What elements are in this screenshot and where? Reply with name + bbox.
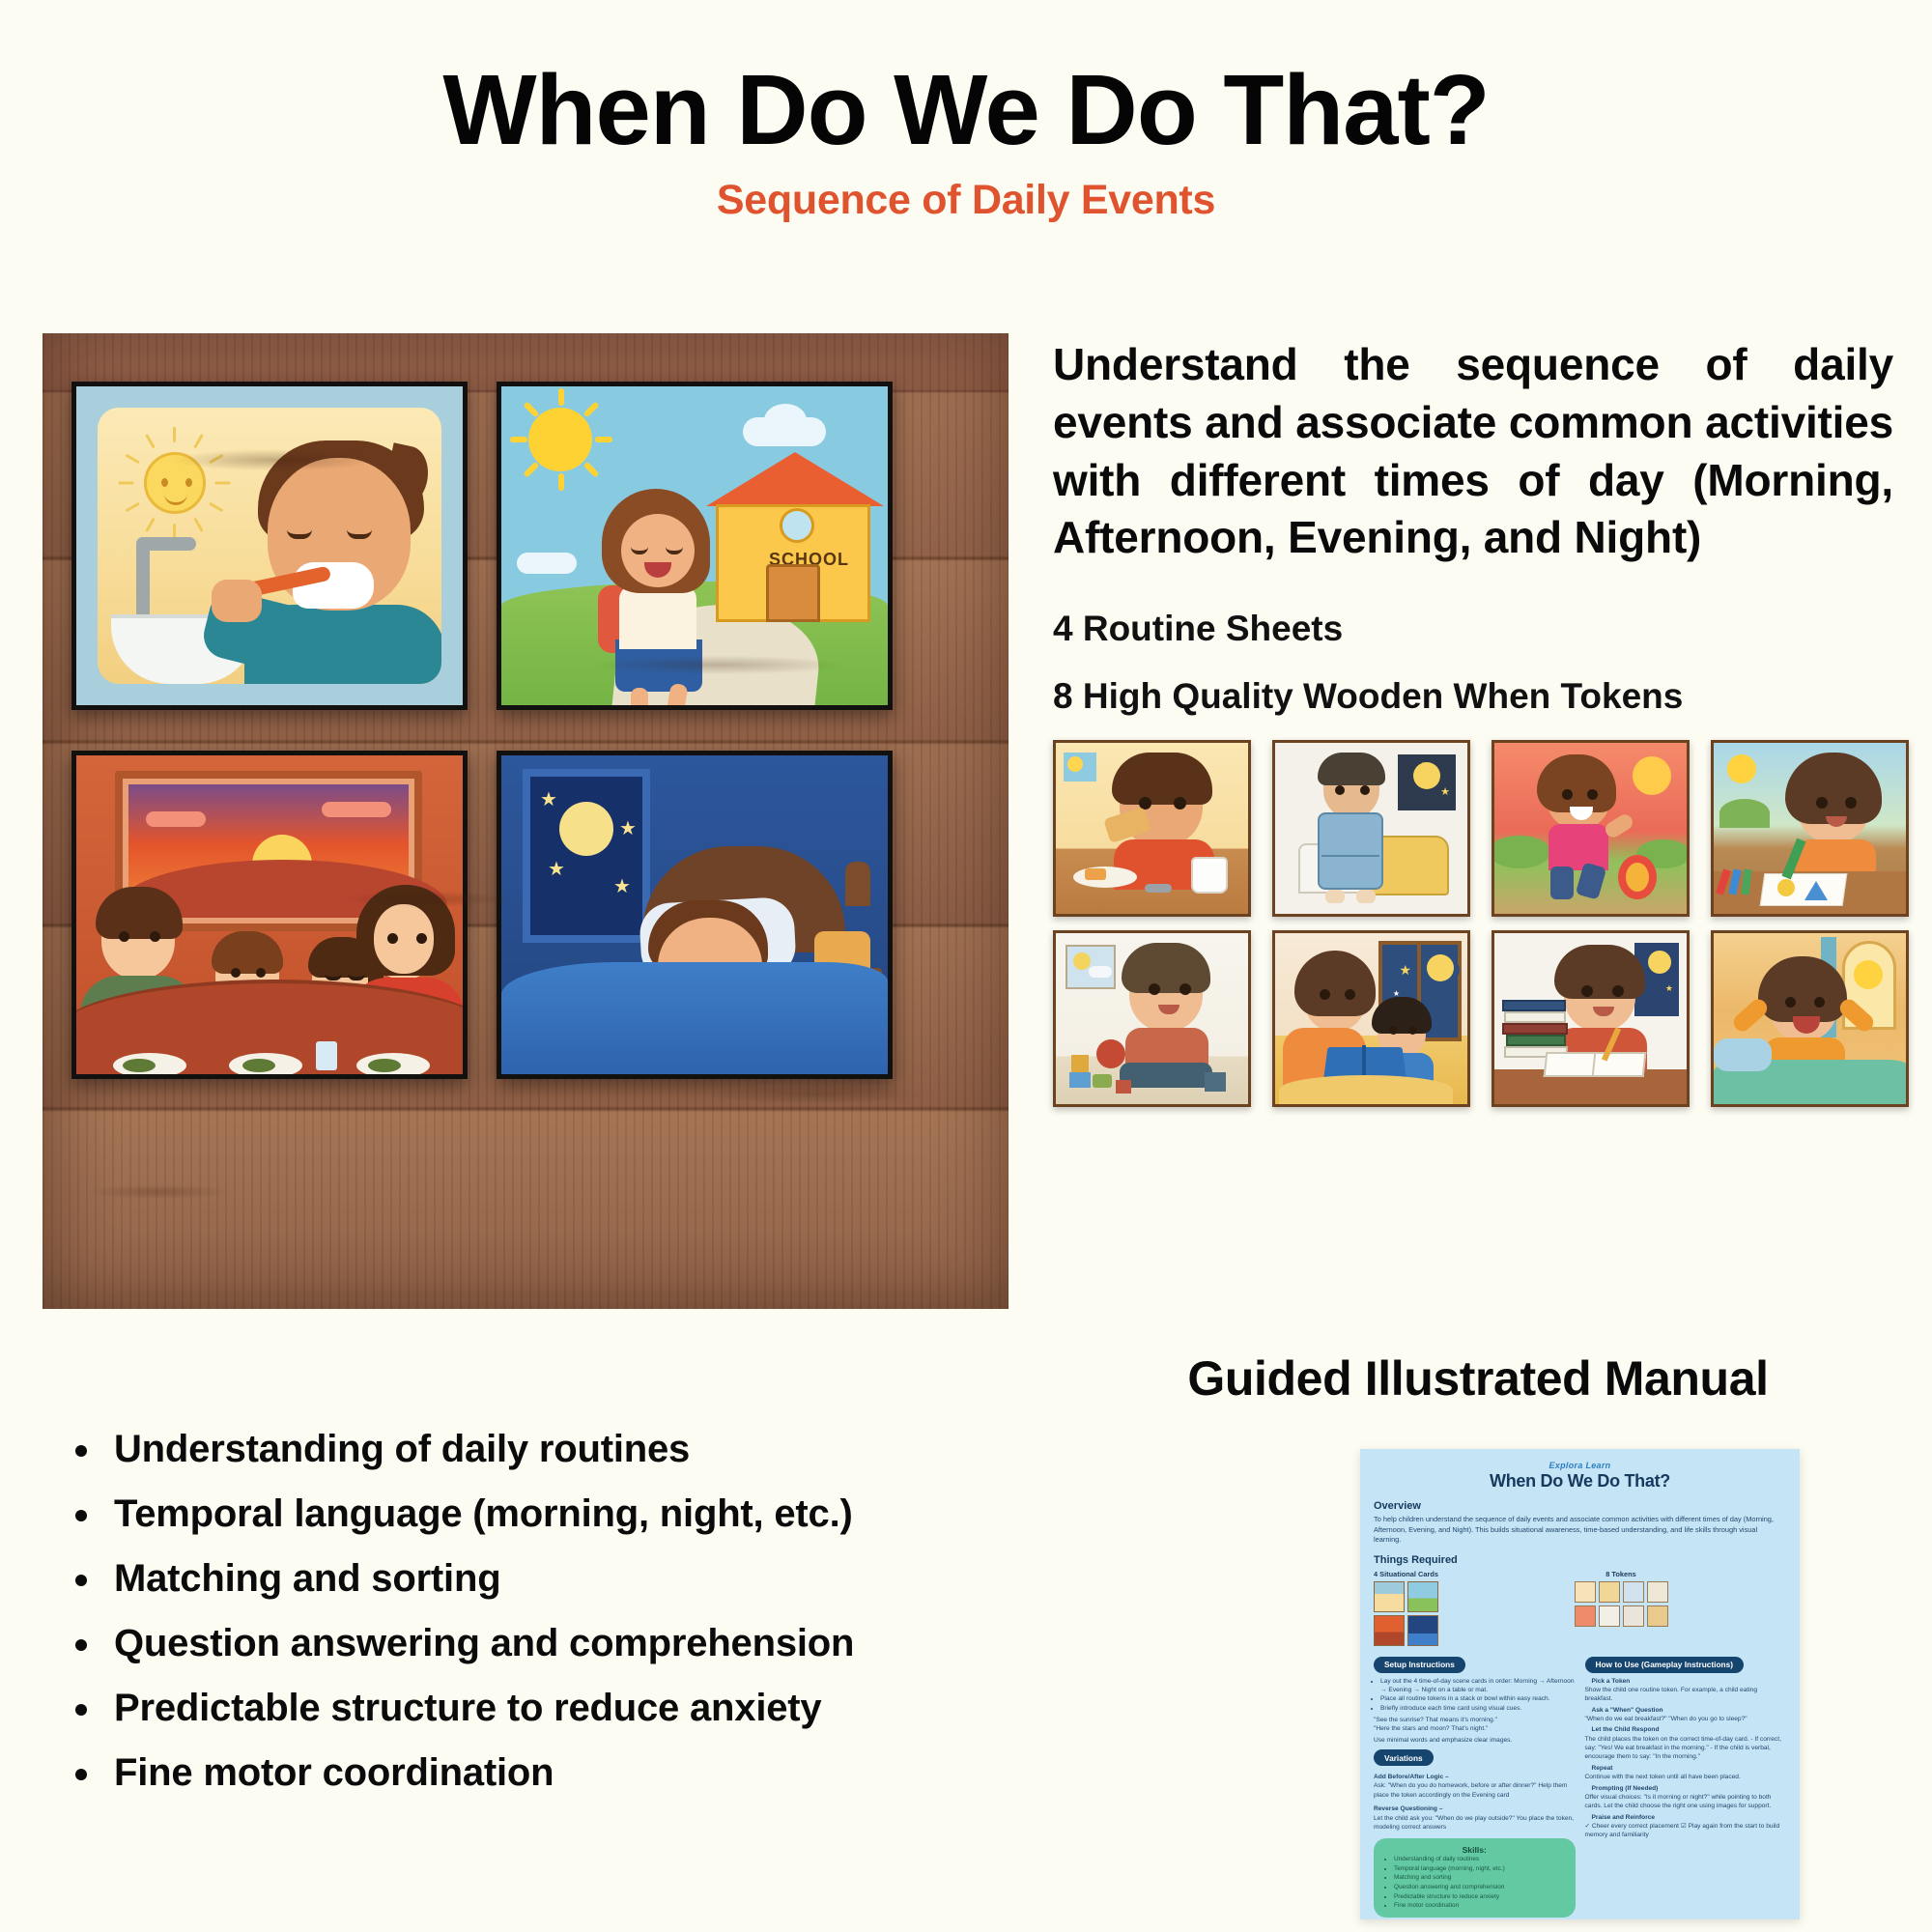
howto-step-text: Offer visual choices: "Is it morning or …: [1585, 1793, 1787, 1811]
setup-note: Use minimal words and emphasize clear im…: [1374, 1736, 1576, 1745]
manual-skills-box: Skills: Understanding of daily routines …: [1374, 1838, 1576, 1918]
school-door: [766, 564, 820, 622]
thumb-morning: [1374, 1581, 1405, 1612]
page-root: When Do We Do That? Sequence of Daily Ev…: [0, 0, 1932, 1932]
thumb-evening: [1374, 1615, 1405, 1646]
includes-sheets: 4 Routine Sheets: [1053, 606, 1893, 651]
crescent-moon-icon: [559, 802, 613, 856]
howto-step-title: Prompting (If Needed): [1592, 1784, 1787, 1793]
benefit-item: Understanding of daily routines: [104, 1430, 1007, 1468]
benefit-item: Predictable structure to reduce anxiety: [104, 1689, 1007, 1727]
routine-card-morning: [71, 382, 468, 710]
token-bedtime-story: ★ ★: [1272, 930, 1470, 1107]
token-grid: ★ ★: [1053, 740, 1893, 1107]
manual-preview: Explora Learn When Do We Do That? Overvi…: [1360, 1449, 1800, 1919]
howto-step-text: "When do we eat breakfast?" "When do you…: [1585, 1715, 1787, 1723]
benefit-item: Matching and sorting: [104, 1559, 1007, 1598]
includes-list: 4 Routine Sheets 8 High Quality Wooden W…: [1053, 606, 1893, 719]
school-window-icon: [780, 508, 814, 543]
token-playing-blocks: [1053, 930, 1251, 1107]
thumb-night: [1407, 1615, 1438, 1646]
dining-table: [71, 980, 468, 1079]
thumb-token: [1575, 1581, 1596, 1603]
setup-item: Lay out the 4 time-of-day scene cards in…: [1380, 1677, 1576, 1695]
howto-step-title: Ask a "When" Question: [1592, 1706, 1787, 1715]
howto-step-title: Pick a Token: [1592, 1677, 1787, 1686]
token-doing-homework: ★: [1492, 930, 1690, 1107]
manual-token-thumbs: [1456, 1605, 1786, 1627]
star-icon: ★: [613, 877, 631, 896]
setup-item: Place all routine tokens in a stack or b…: [1380, 1694, 1576, 1703]
token-waking-up: [1711, 930, 1909, 1107]
page-title: When Do We Do That?: [0, 60, 1932, 159]
manual-card-thumbs: [1374, 1581, 1438, 1612]
setup-quote: "Here the stars and moon? That's night.": [1374, 1724, 1576, 1733]
setup-quote: "See the sunrise? That means it's mornin…: [1374, 1716, 1576, 1724]
manual-overview-text: To help children understand the sequence…: [1374, 1515, 1786, 1546]
thumb-token: [1575, 1605, 1596, 1627]
manual-cards-label: 4 Situational Cards: [1374, 1570, 1438, 1578]
cloud-icon: [743, 417, 826, 446]
thumb-token: [1647, 1581, 1668, 1603]
star-icon: ★: [548, 860, 565, 879]
benefit-item: Temporal language (morning, night, etc.): [104, 1494, 1007, 1533]
sun-icon: [528, 408, 592, 471]
skills-heading: Skills:: [1382, 1845, 1567, 1855]
plate-icon: [356, 1053, 430, 1078]
glass-icon: [316, 1041, 337, 1070]
bed-post: [845, 862, 870, 906]
routine-card-night: ★ ★ ★ ★: [497, 751, 893, 1079]
girl-shirt: [619, 585, 696, 649]
page-subtitle: Sequence of Daily Events: [0, 177, 1932, 224]
plate-icon: [229, 1053, 302, 1078]
cloud-icon: [146, 811, 206, 827]
manual-setup-pill: Setup Instructions: [1374, 1657, 1465, 1673]
skill-item: Understanding of daily routines: [1394, 1855, 1567, 1864]
includes-tokens: 8 High Quality Wooden When Tokens: [1053, 673, 1893, 719]
routine-card-afternoon: SCHOOL: [497, 382, 893, 710]
variation-title: Add Before/After Logic –: [1374, 1773, 1576, 1781]
manual-tokens-label: 8 Tokens: [1456, 1570, 1786, 1578]
star-icon: ★: [540, 790, 557, 810]
token-pajamas-bedtime: ★ ★: [1272, 740, 1470, 917]
benefit-item: Question answering and comprehension: [104, 1624, 1007, 1662]
benefit-item: Fine motor coordination: [104, 1753, 1007, 1792]
thumb-token: [1599, 1605, 1620, 1627]
cloud-icon: [322, 802, 391, 817]
boy-hand: [212, 580, 262, 622]
token-eating-breakfast: [1053, 740, 1251, 917]
night-window: ★ ★ ★ ★: [523, 769, 650, 943]
smiling-sun-icon: [144, 452, 206, 514]
manual-howto-pill: How to Use (Gameplay Instructions): [1585, 1657, 1744, 1673]
thumb-afternoon: [1407, 1581, 1438, 1612]
manual-things-required-heading: Things Required: [1374, 1554, 1786, 1566]
star-icon: ★: [619, 819, 637, 838]
manual-card-thumbs: [1374, 1615, 1438, 1646]
faucet-icon: [136, 537, 150, 620]
skill-item: Matching and sorting: [1394, 1873, 1567, 1883]
skill-item: Predictable structure to reduce anxiety: [1394, 1892, 1567, 1902]
routine-sheets-photo: SCHOOL: [43, 333, 1009, 1309]
howto-step-text: ✓ Cheer every correct placement ☑ Play a…: [1585, 1822, 1787, 1840]
howto-step-title: Repeat: [1592, 1764, 1787, 1773]
manual-variations-pill: Variations: [1374, 1749, 1434, 1766]
setup-item: Briefly introduce each time card using v…: [1380, 1704, 1576, 1713]
thumb-token: [1599, 1581, 1620, 1603]
product-description: Understand the sequence of daily events …: [1053, 336, 1893, 567]
variation-text: Ask: "When do you do homework, before or…: [1374, 1781, 1576, 1800]
manual-token-thumbs: [1456, 1581, 1786, 1603]
cloud-icon: [517, 553, 577, 574]
manual-brand: Explora Learn: [1374, 1461, 1786, 1470]
variation-title: Reverse Questioning –: [1374, 1804, 1576, 1813]
howto-step-title: Praise and Reinforce: [1592, 1813, 1787, 1822]
howto-step-text: Continue with the next token until all h…: [1585, 1773, 1787, 1781]
header: When Do We Do That? Sequence of Daily Ev…: [0, 0, 1932, 224]
token-drawing-coloring: [1711, 740, 1909, 917]
routine-card-evening: [71, 751, 468, 1079]
thumb-token: [1647, 1605, 1668, 1627]
skill-item: Fine motor coordination: [1394, 1901, 1567, 1911]
howto-step-title: Let the Child Respond: [1592, 1725, 1787, 1734]
girl-leg: [631, 688, 648, 710]
howto-step-text: The child places the token on the correc…: [1585, 1735, 1787, 1762]
variation-text: Let the child ask you: "When do we play …: [1374, 1814, 1576, 1833]
token-playing-ball-outside: [1492, 740, 1690, 917]
benefits-list: Understanding of daily routines Temporal…: [60, 1430, 1007, 1818]
manual-overview-heading: Overview: [1374, 1500, 1786, 1512]
product-details: Understand the sequence of daily events …: [1053, 336, 1893, 1107]
manual-title-text: When Do We Do That?: [1374, 1471, 1786, 1492]
thumb-token: [1623, 1581, 1644, 1603]
school-roof: [706, 452, 884, 506]
skill-item: Question answering and comprehension: [1394, 1883, 1567, 1892]
thumb-token: [1623, 1605, 1644, 1627]
howto-step-text: Show the child one routine token. For ex…: [1585, 1686, 1787, 1704]
blanket: [501, 962, 888, 1074]
plate-icon: [113, 1053, 186, 1078]
manual-heading: Guided Illustrated Manual: [1053, 1350, 1903, 1406]
skill-item: Temporal language (morning, night, etc.): [1394, 1864, 1567, 1874]
